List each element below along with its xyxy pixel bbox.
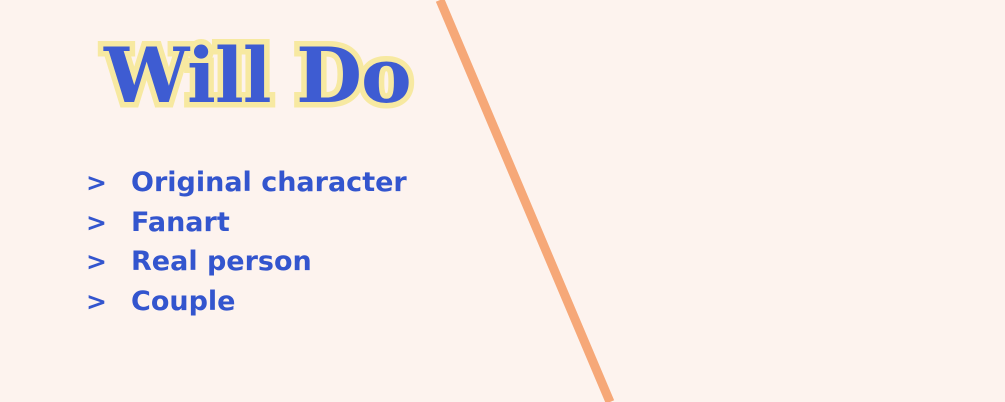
will-do-panel: Will Do > Original character > Fanart > … <box>0 0 470 402</box>
list-item: > Couple <box>86 282 407 322</box>
list-item: > Real person <box>86 242 407 282</box>
list-item: > Original character <box>86 163 407 203</box>
chevron-right-icon: > <box>86 282 131 322</box>
chevron-right-icon: > <box>86 203 131 243</box>
list-item: > Fanart <box>86 203 407 243</box>
chevron-right-icon: > <box>86 163 131 203</box>
list-item-label: Couple <box>131 282 235 322</box>
wont-do-panel: Won’t Do > NSFW > Mecha > Gore > Furry >… <box>540 0 1005 402</box>
commission-terms-graphic: Will Do > Original character > Fanart > … <box>0 0 1005 402</box>
will-do-list: > Original character > Fanart > Real per… <box>86 163 407 321</box>
will-do-heading: Will Do <box>104 38 411 114</box>
list-item-label: Real person <box>131 242 312 282</box>
list-item-label: Original character <box>131 163 407 203</box>
chevron-right-icon: > <box>86 242 131 282</box>
list-item-label: Fanart <box>131 203 230 243</box>
